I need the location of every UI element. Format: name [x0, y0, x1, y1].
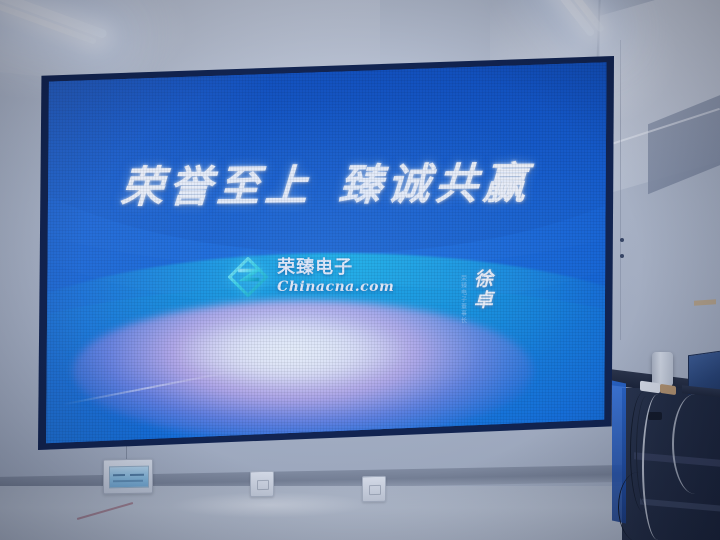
screen-display-area: 荣誉至上臻诚共赢 [38, 56, 614, 450]
cable [618, 472, 659, 540]
wall-screw-dot [620, 254, 624, 258]
chinacna-diamond-z-logo-icon [228, 257, 268, 297]
company-logo: 荣臻电子 Chinacna.com [228, 257, 394, 297]
cable [672, 394, 718, 494]
ac-control-panel[interactable] [103, 459, 153, 495]
power-outlet-right[interactable] [362, 476, 386, 502]
signature-block: 荣臻电子董事长 徐卓 [458, 269, 490, 324]
av-equipment-cart [612, 352, 720, 540]
wall-screw-dot [620, 238, 624, 242]
company-website: Chinacna.com [277, 280, 394, 294]
slide-content: 荣誉至上臻诚共赢 [38, 56, 614, 450]
company-name-cn: 荣臻电子 [277, 259, 394, 277]
wall-seam-line [620, 40, 621, 340]
headline-part-one: 荣誉至上 [119, 161, 314, 213]
led-video-wall[interactable]: 荣誉至上臻诚共赢 [38, 56, 614, 450]
ac-panel-display [109, 466, 149, 489]
power-outlet-left[interactable] [250, 471, 274, 497]
signature-caption: 荣臻电子董事长 [458, 275, 467, 324]
cylindrical-speaker [652, 352, 673, 386]
signature-name: 徐卓 [471, 269, 490, 311]
room-photo-scene: 荣誉至上臻诚共赢 [0, 0, 720, 540]
slide-headline: 荣誉至上臻诚共赢 [38, 148, 614, 216]
headline-part-two: 臻诚共赢 [337, 158, 532, 210]
logo-text-block: 荣臻电子 Chinacna.com [277, 259, 394, 294]
